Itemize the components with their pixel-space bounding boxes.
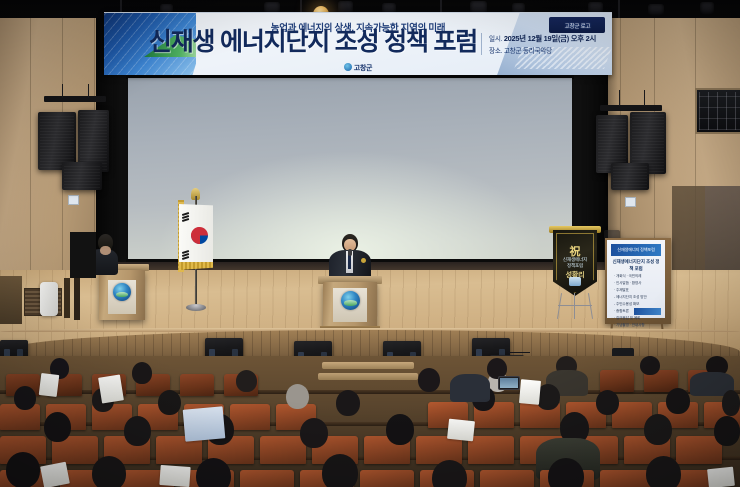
speaker-mount-bar bbox=[600, 105, 662, 111]
banner-organizer-text: 고창군 bbox=[354, 65, 372, 72]
ceremonial-fringe bbox=[551, 232, 599, 292]
program-board-list: · 개회식 · 국민의례 · 인사말씀 · 환영사 · 주제발표 - 에너지단지… bbox=[614, 273, 661, 329]
audience-head-front bbox=[196, 458, 231, 487]
auditorium-photo: 고창군 로고 농업과 에너지의 상생, 지속가능한 지역의 미래 신재생 에너지… bbox=[0, 0, 740, 487]
lapel-pin bbox=[361, 258, 366, 263]
seat bbox=[240, 470, 294, 487]
program-paper bbox=[159, 465, 190, 487]
audience-head bbox=[640, 356, 660, 375]
side-podium-emblem bbox=[113, 283, 131, 301]
banner-info-block: 일시. 2025년 12월 19일(금) 오후 2시 장소. 고창군 동리국악당 bbox=[489, 32, 609, 58]
speaker-mount-bar bbox=[44, 96, 106, 102]
smartphone bbox=[498, 376, 520, 390]
audience-head-front bbox=[432, 460, 467, 487]
audience-head-front bbox=[322, 454, 358, 487]
wall-outlet bbox=[68, 195, 79, 205]
seat bbox=[360, 470, 414, 487]
person-face bbox=[100, 246, 111, 255]
program-item: - 주민수용성 확보 bbox=[614, 301, 661, 308]
audience-head-front bbox=[548, 458, 584, 487]
audience-head bbox=[722, 390, 740, 416]
program-paper bbox=[40, 462, 70, 487]
audience-area bbox=[0, 356, 740, 487]
seat bbox=[468, 436, 514, 464]
subwoofer-speaker bbox=[62, 162, 102, 190]
seat bbox=[416, 436, 462, 464]
control-booth-window bbox=[695, 88, 740, 134]
audience-head bbox=[336, 390, 360, 416]
audience-head bbox=[14, 386, 36, 410]
stage-light bbox=[700, 2, 714, 15]
wall-outlet bbox=[625, 197, 636, 207]
audience-head bbox=[300, 418, 328, 448]
banner-divider bbox=[481, 33, 482, 55]
taeguk-symbol bbox=[191, 227, 208, 244]
audience-head bbox=[124, 416, 151, 446]
program-booklet bbox=[183, 406, 226, 441]
audience-head bbox=[44, 412, 71, 442]
aisle-step bbox=[318, 373, 418, 380]
program-item: - 에너지단지 조성 방안 bbox=[614, 294, 661, 301]
program-board-footer bbox=[634, 308, 661, 315]
speaker-wire bbox=[88, 84, 89, 98]
seat bbox=[676, 436, 722, 464]
program-paper bbox=[707, 467, 735, 487]
audience-head bbox=[418, 368, 440, 392]
banner-title: 신재생 에너지단지 조성 정책 포럼 bbox=[148, 30, 478, 55]
program-paper bbox=[519, 379, 541, 405]
aisle-step bbox=[322, 362, 414, 369]
seat bbox=[480, 470, 534, 487]
audience-head bbox=[666, 388, 690, 414]
monitor-cable bbox=[508, 352, 530, 353]
subwoofer-speaker bbox=[611, 163, 649, 190]
banner-organizer: 고창군 bbox=[104, 63, 612, 73]
program-board-title: 신재생에너지단지 조성 정책 포럼 bbox=[611, 259, 661, 272]
audience-head-front bbox=[92, 456, 126, 487]
audience-head bbox=[158, 390, 181, 415]
seat bbox=[230, 404, 270, 430]
gochang-logo-icon bbox=[344, 63, 352, 71]
flag-stand-base bbox=[186, 304, 206, 311]
speaker-wire bbox=[644, 90, 645, 106]
air-purifier bbox=[40, 282, 58, 316]
program-item: · 주제발표 bbox=[614, 287, 661, 294]
program-board-header-text: 신재생에너지 정책포럼 bbox=[611, 244, 661, 256]
left-wall-lower bbox=[0, 276, 22, 324]
program-item: · 개회식 · 국민의례 bbox=[614, 273, 661, 280]
audience-head bbox=[386, 414, 414, 445]
audience-head bbox=[714, 416, 740, 446]
audience-head bbox=[596, 390, 619, 415]
program-paper bbox=[98, 374, 124, 403]
audience-head-front bbox=[646, 456, 681, 487]
backstage-dark-panel bbox=[70, 232, 96, 278]
program-paper bbox=[39, 373, 60, 397]
audience-head bbox=[236, 370, 257, 392]
banner-date-label: 일시. bbox=[489, 36, 502, 43]
microphone bbox=[348, 249, 352, 256]
banner-place-label: 장소. bbox=[489, 48, 502, 55]
wall-edge bbox=[64, 278, 70, 318]
seat bbox=[600, 370, 634, 392]
audience-body bbox=[450, 374, 490, 402]
banner-date-value: 2025년 12월 19일(금) 오후 2시 bbox=[504, 34, 596, 43]
audience-head bbox=[644, 414, 672, 445]
banner-place-value: 고창군 동리국악당 bbox=[504, 48, 552, 55]
seat bbox=[260, 436, 306, 464]
program-item: · 인사말씀 · 환영사 bbox=[614, 280, 661, 287]
audience-head bbox=[132, 362, 152, 384]
stage-light bbox=[648, 4, 664, 16]
speaker-wire bbox=[619, 90, 620, 106]
audience-head-gray bbox=[286, 384, 309, 409]
program-item: · 질의응답 및 폐회 bbox=[614, 315, 661, 322]
event-banner: 고창군 로고 농업과 에너지의 상생, 지속가능한 지역의 미래 신재생 에너지… bbox=[104, 12, 612, 75]
program-paper bbox=[447, 419, 475, 442]
ceremonial-stand bbox=[556, 293, 594, 319]
seat bbox=[180, 374, 214, 396]
speaker-wire bbox=[62, 84, 63, 98]
program-board-header: 신재생에너지 정책포럼 bbox=[611, 244, 661, 256]
wall-edge bbox=[74, 276, 80, 320]
audience-head-front bbox=[6, 452, 40, 487]
main-podium-emblem bbox=[341, 291, 360, 310]
